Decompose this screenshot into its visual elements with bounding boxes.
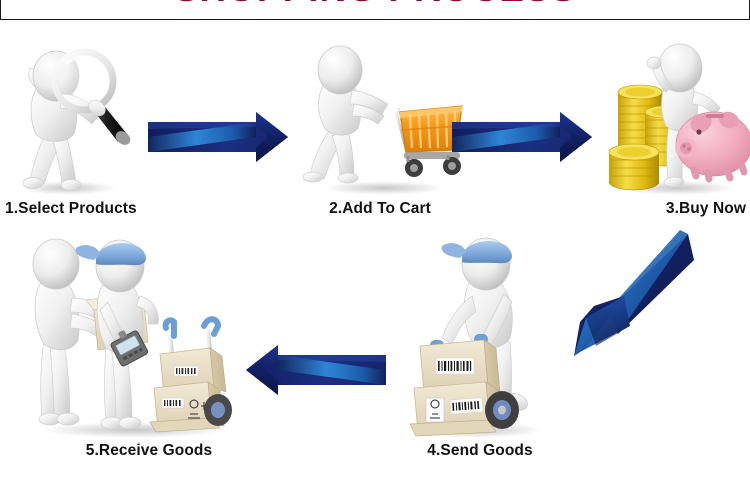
step-2-label: 2.Add To Cart xyxy=(296,200,464,218)
person-with-magnifier-icon xyxy=(0,38,152,198)
arrow-right-icon-1 xyxy=(148,108,290,166)
courier-with-hand-truck-icon xyxy=(392,222,568,440)
step-4-label: 4.Send Goods xyxy=(392,442,568,460)
step-3: 3.Buy Now xyxy=(604,40,750,218)
step-5-label: 5.Receive Goods xyxy=(22,442,254,460)
page-title: SHOPPING PROCESS xyxy=(1,0,749,11)
hand-truck-with-boxes xyxy=(150,319,232,432)
step-1-label: 1.Select Products xyxy=(0,200,152,218)
parcel-boxes xyxy=(410,340,502,436)
coins-and-piggy-bank-icon xyxy=(604,40,750,198)
customer-receiving-parcel-icon xyxy=(22,228,254,440)
arrow-diagonal-down-left-icon xyxy=(570,228,696,360)
step-5: 5.Receive Goods xyxy=(22,228,254,460)
step-4: 4.Send Goods xyxy=(392,222,568,460)
arrow-right-icon-2 xyxy=(452,108,594,166)
shopping-process-infographic: SHOPPING PROCESS xyxy=(0,0,750,502)
step-1: 1.Select Products xyxy=(0,38,152,218)
step-2: 2.Add To Cart xyxy=(296,42,464,218)
header-band: SHOPPING PROCESS xyxy=(0,0,750,20)
arrow-left-icon xyxy=(244,342,386,398)
step-3-label: 3.Buy Now xyxy=(604,200,750,218)
person-pushing-shopping-cart-icon xyxy=(296,42,464,198)
